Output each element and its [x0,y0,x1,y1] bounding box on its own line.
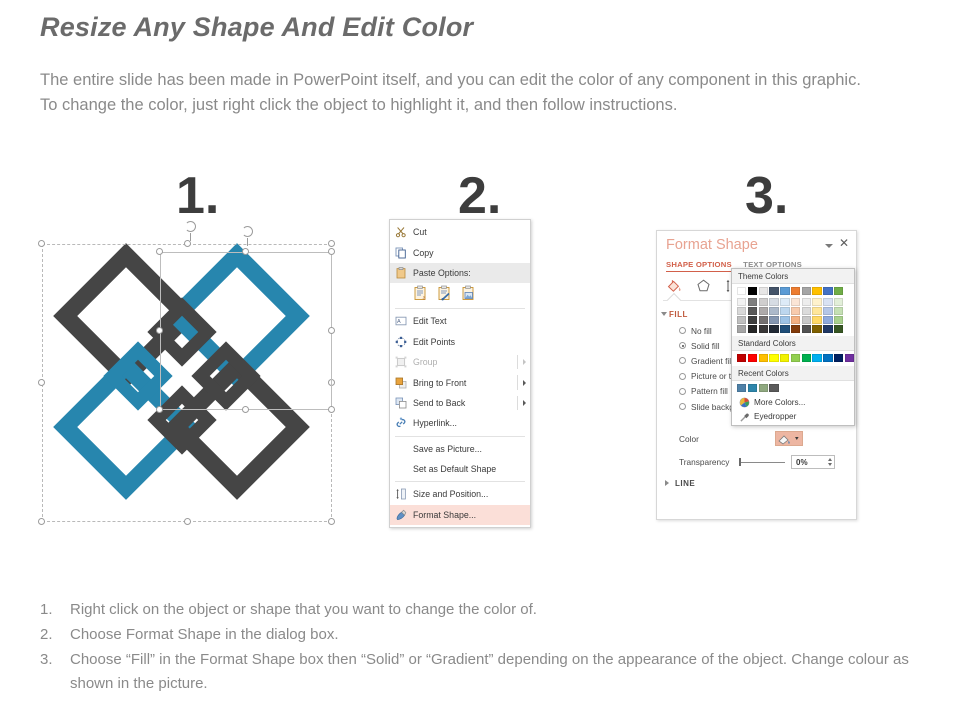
theme-colors-grid[interactable] [732,284,854,333]
rotation-handle-outer[interactable] [185,221,196,232]
inner-handle-w[interactable] [156,327,163,334]
menu-item-copy[interactable]: Copy [390,242,530,262]
theme-color-shade-swatch[interactable] [791,307,800,315]
fill-section-header[interactable]: FILL [669,310,688,319]
effects-pentagon-icon[interactable] [695,278,712,299]
step-number-3: 3. [745,170,788,222]
recent-color-swatch[interactable] [769,384,778,392]
format-shape-title: Format Shape [666,237,758,253]
menu-item-hyperlink[interactable]: Hyperlink... [390,413,530,433]
theme-color-swatch[interactable] [834,287,843,295]
color-row[interactable]: Color [679,431,847,446]
slide-canvas: Resize Any Shape And Edit Color The enti… [0,0,960,720]
theme-color-shade-swatch[interactable] [769,298,778,306]
recent-color-swatch[interactable] [748,384,757,392]
menu-label: Cut [413,227,526,237]
transparency-row[interactable]: Transparency 0% [679,455,851,469]
theme-color-shade-swatch[interactable] [812,325,821,333]
standard-color-swatch[interactable] [823,354,832,362]
theme-color-column[interactable] [791,287,800,333]
chevron-down-icon[interactable] [825,244,833,248]
list-text: Choose “Fill” in the Format Shape box th… [70,648,945,696]
menu-separator [395,436,525,437]
inner-handle-se[interactable] [328,406,335,413]
theme-color-shade-swatch[interactable] [834,316,843,324]
theme-color-swatch[interactable] [802,287,811,295]
eyedropper-icon [738,410,750,422]
theme-color-shade-swatch[interactable] [769,325,778,333]
color-palette-popup[interactable]: Theme Colors Standard Colors Recent Colo… [731,268,855,426]
list-number: 2. [40,623,70,647]
paste-picture-icon[interactable] [460,285,477,304]
group-icon [393,355,408,370]
standard-color-swatch[interactable] [812,354,821,362]
menu-label: Size and Position... [413,489,526,499]
theme-color-shade-swatch[interactable] [737,325,746,333]
theme-color-shade-swatch[interactable] [748,307,757,315]
standard-colors-header: Standard Colors [732,336,854,351]
clipboard-icon [393,265,408,280]
theme-color-shade-swatch[interactable] [791,298,800,306]
send-back-icon [393,395,408,410]
theme-color-shade-swatch[interactable] [759,298,768,306]
menu-item-edit-points[interactable]: Edit Points [390,332,530,352]
standard-color-swatch[interactable] [769,354,778,362]
more-colors-label: More Colors... [754,398,805,407]
theme-colors-header: Theme Colors [732,269,854,284]
menu-label: Set as Default Shape [413,464,526,474]
eyedropper-item[interactable]: Eyedropper [732,409,854,423]
inner-handle-nw[interactable] [156,248,163,255]
page-title: Resize Any Shape And Edit Color [40,12,473,43]
recent-color-swatch[interactable] [759,384,768,392]
color-label: Color [679,434,775,444]
theme-color-shade-swatch[interactable] [748,325,757,333]
list-number: 1. [40,598,70,622]
theme-color-column[interactable] [802,287,811,333]
menu-label: Edit Text [413,316,526,326]
none-icon [393,462,408,477]
standard-color-swatch[interactable] [780,354,789,362]
inner-handle-s[interactable] [242,406,249,413]
size-position-icon [393,487,408,502]
chevron-right-icon [523,359,526,365]
standard-color-swatch[interactable] [845,354,854,362]
theme-color-swatch[interactable] [737,287,746,295]
menu-label: Bring to Front [413,378,519,388]
inner-handle-e[interactable] [328,327,335,334]
standard-color-swatch[interactable] [737,354,746,362]
scissors-icon [393,225,408,240]
theme-color-shade-swatch[interactable] [759,325,768,333]
submenu-divider [517,375,518,389]
selection-handle-sw[interactable] [38,518,45,525]
format-shape-icon [393,507,408,522]
theme-color-shade-swatch[interactable] [834,298,843,306]
theme-color-shade-swatch[interactable] [823,307,832,315]
theme-color-shade-swatch[interactable] [769,316,778,324]
paste-merge-formatting-icon[interactable] [436,285,453,304]
list-text: Choose Format Shape in the dialog box. [70,623,945,647]
chevron-right-icon [523,400,526,406]
theme-color-shade-swatch[interactable] [737,316,746,324]
menu-separator [395,481,525,482]
theme-color-column[interactable] [812,287,821,333]
theme-color-shade-swatch[interactable] [737,307,746,315]
stepper-down-icon[interactable] [828,463,832,466]
paste-keep-formatting-icon[interactable]: a [412,285,429,304]
standard-color-swatch[interactable] [834,354,843,362]
theme-color-column[interactable] [769,287,778,333]
selection-handle-s[interactable] [184,518,191,525]
radio-dot [679,357,686,364]
menu-label: Format Shape... [413,510,526,520]
edit-text-icon: A [393,314,408,329]
transparency-slider[interactable] [737,457,785,467]
list-number: 3. [40,648,70,696]
close-icon[interactable]: ✕ [839,237,849,249]
list-item: 3. Choose “Fill” in the Format Shape box… [40,648,945,696]
theme-color-shade-swatch[interactable] [812,307,821,315]
edit-points-icon [393,334,408,349]
theme-color-shade-swatch[interactable] [834,307,843,315]
radio-label: Solid fill [691,341,720,351]
eyedropper-label: Eyedropper [754,412,796,421]
menu-label: Copy [413,248,526,258]
slider-track [741,462,785,463]
menu-label: Group [413,357,519,367]
theme-color-shade-swatch[interactable] [802,298,811,306]
theme-color-shade-swatch[interactable] [780,298,789,306]
copy-icon [393,245,408,260]
list-text: Right click on the object or shape that … [70,598,945,622]
menu-item-group[interactable]: Group [390,352,530,372]
list-item: 2. Choose Format Shape in the dialog box… [40,623,945,647]
theme-color-shade-swatch[interactable] [780,316,789,324]
menu-item-set-default-shape[interactable]: Set as Default Shape [390,459,530,479]
step-number-2: 2. [458,170,501,222]
theme-color-column[interactable] [759,287,768,333]
svg-text:A: A [397,319,401,325]
svg-text:a: a [423,296,426,302]
standard-color-swatch[interactable] [748,354,757,362]
bring-front-icon [393,375,408,390]
radio-dot [679,388,686,395]
theme-color-swatch[interactable] [791,287,800,295]
theme-color-shade-swatch[interactable] [823,316,832,324]
tab-shape-options[interactable]: SHAPE OPTIONS [666,260,732,272]
radio-dot [679,403,686,410]
chevron-right-icon [523,380,526,386]
inner-handle-ne[interactable] [328,248,335,255]
theme-color-shade-swatch[interactable] [802,307,811,315]
theme-color-shade-swatch[interactable] [812,298,821,306]
submenu-divider [517,355,518,369]
standard-color-swatch[interactable] [791,354,800,362]
radio-label: Gradient fill [691,356,733,366]
paste-options-row[interactable]: a [390,283,530,306]
slider-thumb[interactable] [739,458,741,466]
radio-dot-selected [679,342,686,349]
transparency-label: Transparency [679,457,737,467]
theme-color-shade-swatch[interactable] [759,316,768,324]
selection-handle-n[interactable] [184,240,191,247]
standard-color-swatch[interactable] [759,354,768,362]
theme-color-swatch[interactable] [823,287,832,295]
menu-separator [395,308,525,309]
menu-item-edit-text[interactable]: A Edit Text [390,311,530,331]
none-icon [393,441,408,456]
stepper-up-icon[interactable] [828,458,832,461]
menu-item-send-to-back[interactable]: Send to Back [390,393,530,413]
recent-colors-header: Recent Colors [732,366,854,381]
context-menu[interactable]: Cut Copy Paste Options: a [389,219,531,528]
theme-color-column[interactable] [737,287,746,333]
radio-dot [679,373,686,380]
menu-item-cut[interactable]: Cut [390,222,530,242]
radio-label: No fill [691,326,712,336]
theme-color-shade-swatch[interactable] [748,316,757,324]
theme-color-shade-swatch[interactable] [802,316,811,324]
theme-color-column[interactable] [780,287,789,333]
theme-color-column[interactable] [823,287,832,333]
selection-handle-nw[interactable] [38,240,45,247]
selection-handle-ne[interactable] [328,240,335,247]
theme-color-shade-swatch[interactable] [780,307,789,315]
intro-paragraph: The entire slide has been made in PowerP… [40,68,870,118]
theme-color-column[interactable] [834,287,843,333]
inner-handle-n[interactable] [242,248,249,255]
color-picker-button[interactable] [775,431,803,446]
menu-item-size-and-position[interactable]: Size and Position... [390,484,530,504]
shape-graphic-panel[interactable] [42,232,334,524]
theme-color-swatch[interactable] [748,287,757,295]
theme-color-shade-swatch[interactable] [834,325,843,333]
theme-color-column[interactable] [748,287,757,333]
inner-selection-box[interactable] [160,252,332,410]
recent-color-swatch[interactable] [737,384,746,392]
theme-color-shade-swatch[interactable] [769,307,778,315]
radio-dot [679,327,686,334]
rotation-handle-inner[interactable] [242,226,253,237]
hyperlink-icon [393,416,408,431]
standard-colors-row[interactable] [732,351,854,366]
theme-color-swatch[interactable] [812,287,821,295]
theme-color-shade-swatch[interactable] [823,325,832,333]
theme-color-shade-swatch[interactable] [791,316,800,324]
theme-color-swatch[interactable] [769,287,778,295]
inner-handle-sw[interactable] [156,406,163,413]
menu-item-paste-options[interactable]: Paste Options: [390,263,530,283]
menu-label: Paste Options: [413,268,526,278]
menu-label: Send to Back [413,398,519,408]
selection-handle-se[interactable] [328,518,335,525]
theme-color-shade-swatch[interactable] [780,325,789,333]
instruction-list: 1. Right click on the object or shape th… [40,598,945,697]
collapse-triangle-fill-icon[interactable] [661,312,667,316]
menu-label: Hyperlink... [413,418,526,428]
step-number-1: 1. [176,170,219,222]
recent-colors-row[interactable] [732,381,854,395]
menu-item-save-as-picture[interactable]: Save as Picture... [390,439,530,459]
menu-label: Save as Picture... [413,444,526,454]
menu-item-bring-to-front[interactable]: Bring to Front [390,372,530,392]
theme-color-shade-swatch[interactable] [759,307,768,315]
theme-color-shade-swatch[interactable] [791,325,800,333]
stepper-arrows[interactable] [826,457,833,467]
expand-triangle-line-icon[interactable] [665,480,669,486]
radio-label: Pattern fill [691,386,728,396]
line-section-header[interactable]: LINE [675,479,695,488]
submenu-divider [517,396,518,410]
theme-color-swatch[interactable] [780,287,789,295]
transparency-stepper[interactable]: 0% [791,455,835,469]
transparency-value: 0% [792,458,808,467]
more-colors-icon [738,396,750,408]
theme-color-swatch[interactable] [759,287,768,295]
theme-color-shade-swatch[interactable] [812,316,821,324]
standard-color-swatch[interactable] [802,354,811,362]
list-item: 1. Right click on the object or shape th… [40,598,945,622]
menu-label: Edit Points [413,337,526,347]
more-colors-item[interactable]: More Colors... [732,395,854,409]
theme-color-shade-swatch[interactable] [737,298,746,306]
menu-item-format-shape[interactable]: Format Shape... [390,505,530,525]
theme-color-shade-swatch[interactable] [748,298,757,306]
theme-color-shade-swatch[interactable] [823,298,832,306]
selection-handle-w[interactable] [38,379,45,386]
theme-color-shade-swatch[interactable] [802,325,811,333]
